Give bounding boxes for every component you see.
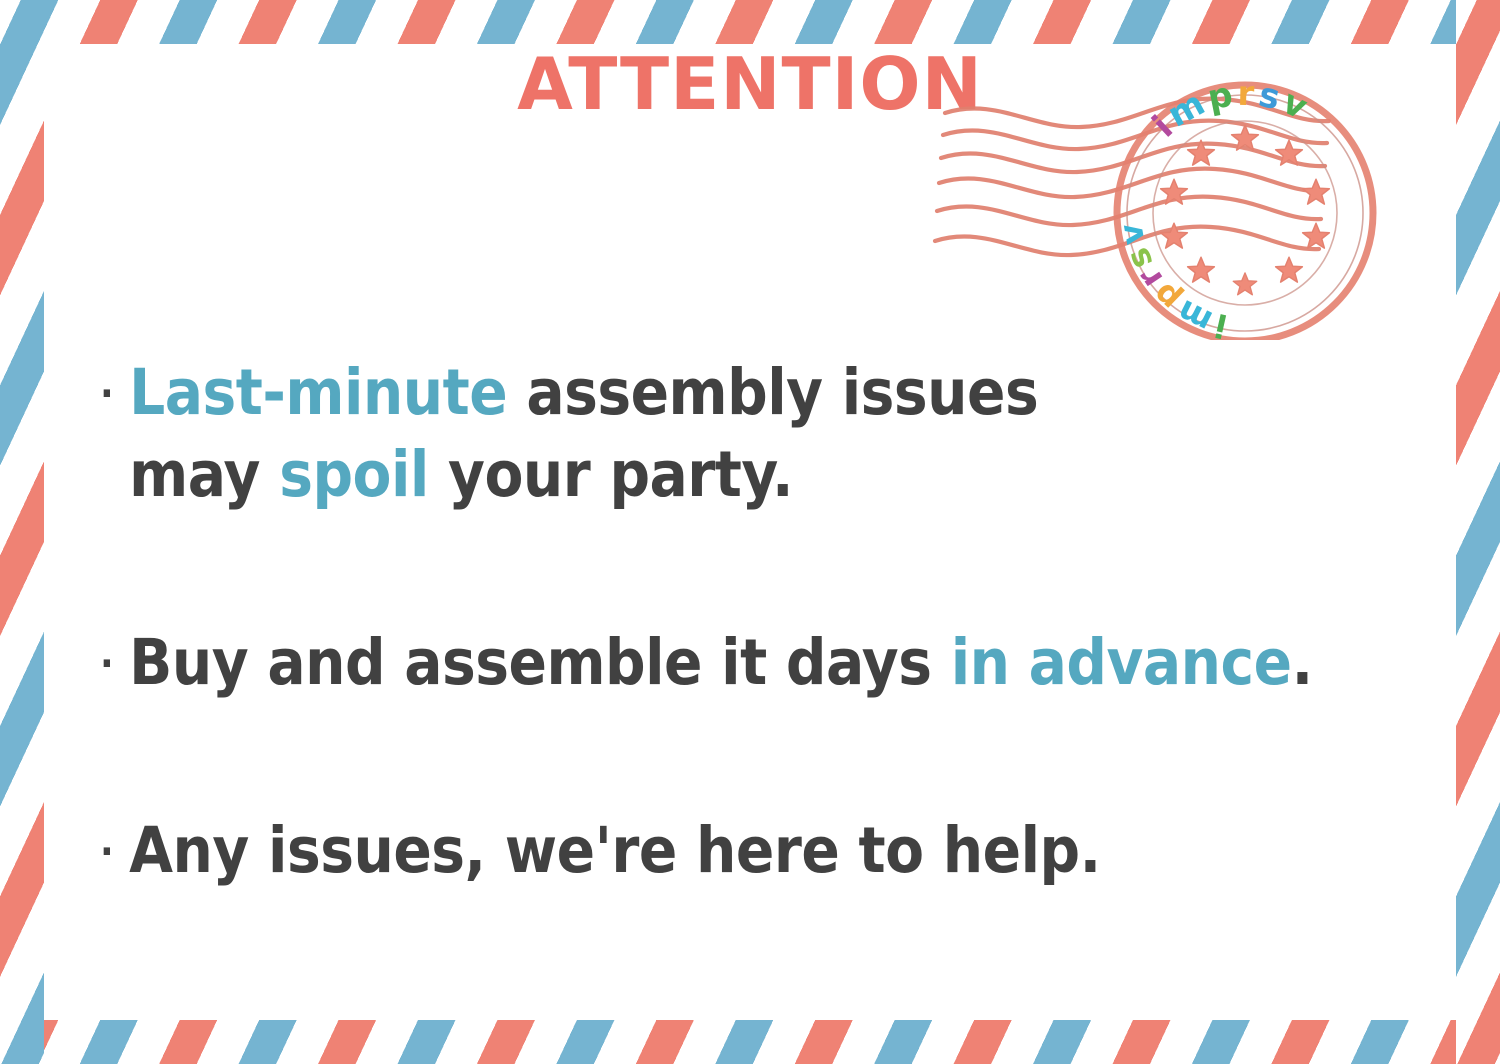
airmail-border-top bbox=[0, 0, 1500, 44]
plain-text: Any issues, we're here to help. bbox=[129, 814, 1100, 887]
plain-text: your party. bbox=[429, 438, 793, 511]
bullet-marker: · bbox=[100, 352, 113, 414]
list-item: · Last-minute assembly issues may spoil … bbox=[100, 352, 1460, 516]
stripe-pattern-bottom bbox=[0, 1020, 1500, 1064]
highlight-text: in advance bbox=[951, 626, 1292, 699]
plain-text: Buy and assemble it days bbox=[129, 626, 951, 699]
list-item-text: Any issues, we're here to help. bbox=[129, 810, 1460, 892]
stripe-pattern-left bbox=[0, 0, 44, 1064]
airmail-notice-card: ATTENTION bbox=[0, 0, 1500, 1064]
highlight-text: spoil bbox=[279, 438, 429, 511]
list-item: · Buy and assemble it days in advance. bbox=[100, 622, 1460, 704]
plain-text: may bbox=[129, 438, 279, 511]
bullet-list: · Last-minute assembly issues may spoil … bbox=[100, 352, 1460, 892]
airmail-border-bottom bbox=[0, 1020, 1500, 1064]
list-item-text: Last-minute assembly issues may spoil yo… bbox=[129, 352, 1460, 516]
bullet-marker: · bbox=[100, 810, 113, 872]
plain-text: assembly issues bbox=[507, 356, 1038, 429]
list-item: · Any issues, we're here to help. bbox=[100, 810, 1460, 892]
stripe-pattern-top bbox=[0, 0, 1500, 44]
stripe-pattern-right bbox=[1456, 0, 1500, 1064]
plain-text: . bbox=[1292, 626, 1313, 699]
highlight-text: Last-minute bbox=[129, 356, 507, 429]
page-title: ATTENTION bbox=[0, 48, 1500, 120]
bullet-marker: · bbox=[100, 622, 113, 684]
list-item-text: Buy and assemble it days in advance. bbox=[129, 622, 1460, 704]
airmail-border-right bbox=[1456, 0, 1500, 1064]
airmail-border-left bbox=[0, 0, 44, 1064]
